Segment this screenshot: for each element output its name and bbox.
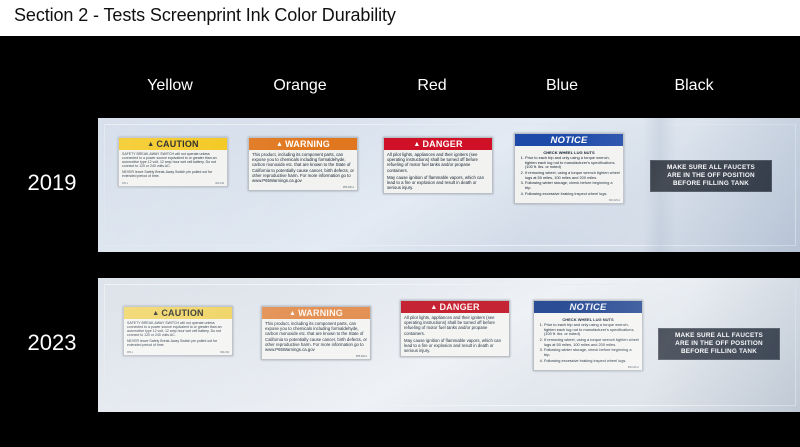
faucets-line-3: BEFORE FILLING TANK <box>659 348 779 356</box>
warning-triangle-icon: ▲ <box>147 141 154 148</box>
decal-danger-title: DANGER <box>422 139 462 149</box>
warning-triangle-icon: ▲ <box>276 141 283 148</box>
decal-danger-2019[interactable]: ▲ DANGER All pilot lights, appliances an… <box>383 137 493 194</box>
decal-notice-2019[interactable]: NOTICE CHECK WHEEL LUG NUTS Prior to eac… <box>514 133 624 204</box>
caution-paragraph-1: SAFETY BREAK-AWAY SWITCH will not operat… <box>127 321 229 337</box>
decal-warning-code-2019: P65-000-2 <box>249 186 357 190</box>
photo-strip-2019: ▲ CAUTION SAFETY BREAK-AWAY SWITCH will … <box>98 118 800 252</box>
decal-warning-body-2019: This product, including its component pa… <box>249 150 357 186</box>
decal-danger-2023[interactable]: ▲ DANGER All pilot lights, appliances an… <box>400 300 510 357</box>
decal-caution-header-2019: ▲ CAUTION <box>119 138 227 150</box>
faucets-line-2: ARE IN THE OFF POSITION <box>651 172 771 180</box>
faucets-line-1: MAKE SURE ALL FAUCETS <box>651 164 771 172</box>
notice-item: If removing wheel, using a torque wrench… <box>544 338 639 347</box>
faucets-line-1: MAKE SURE ALL FAUCETS <box>659 332 779 340</box>
decal-danger-body-2023: All pilot lights, appliances and their i… <box>401 313 509 356</box>
decal-notice-2023[interactable]: NOTICE CHECK WHEEL LUG NUTS Prior to eac… <box>533 300 643 371</box>
caution-paragraph-2: NEVER leave Safety Break-Away Switch pin… <box>127 339 229 347</box>
faucets-line-2: ARE IN THE OFF POSITION <box>659 340 779 348</box>
decal-danger-header-2023: ▲ DANGER <box>401 301 509 313</box>
notice-code-right: 900-025-A <box>609 199 620 202</box>
row-label-2019: 2019 <box>6 170 98 196</box>
column-header-yellow: Yellow <box>110 77 230 95</box>
decal-warning-2023[interactable]: ▲ WARNING This product, including its co… <box>261 306 371 360</box>
decal-caution-code-2019: 965-1 900-019 <box>119 182 227 186</box>
decal-warning-header-2023: ▲ WARNING <box>262 307 370 319</box>
notice-list-2023: Prior to each trip and only using a torq… <box>537 323 639 363</box>
decal-caution-2019[interactable]: ▲ CAUTION SAFETY BREAK-AWAY SWITCH will … <box>118 137 228 187</box>
notice-item: Prior to each trip and only using a torq… <box>544 323 639 337</box>
decal-danger-header-2019: ▲ DANGER <box>384 138 492 150</box>
decal-notice-title: NOTICE <box>550 135 587 146</box>
warning-triangle-icon: ▲ <box>289 310 296 317</box>
warning-triangle-icon: ▲ <box>152 310 159 317</box>
notice-item: Following winter storage, check before b… <box>544 348 639 357</box>
decal-warning-title: WARNING <box>285 139 330 149</box>
decal-notice-title: NOTICE <box>569 302 606 313</box>
decal-caution-title: CAUTION <box>156 139 198 149</box>
danger-paragraph-2: May cause ignition of flammable vapors, … <box>387 175 489 191</box>
caution-code-left: 965-1 <box>122 182 128 185</box>
caution-paragraph-1: SAFETY BREAK-AWAY SWITCH will not operat… <box>122 152 224 168</box>
slide-root: Section 2 - Tests Screenprint Ink Color … <box>0 0 800 447</box>
decal-caution-2023[interactable]: ▲ CAUTION SAFETY BREAK-AWAY SWITCH will … <box>123 306 233 356</box>
decal-caution-body-2019: SAFETY BREAK-AWAY SWITCH will not operat… <box>119 150 227 182</box>
faucets-line-3: BEFORE FILLING TANK <box>651 180 771 188</box>
warning-code-right: P65-000-2 <box>343 186 354 189</box>
caution-code-right: 900-019 <box>220 351 229 354</box>
caution-code-right: 900-019 <box>215 182 224 185</box>
photo-strip-2023: ▲ CAUTION SAFETY BREAK-AWAY SWITCH will … <box>98 278 800 412</box>
notice-item: Following excessive braking inspect whee… <box>544 359 639 364</box>
warning-code-right: P65-000-2 <box>356 355 367 358</box>
decal-warning-body-2023: This product, including its component pa… <box>262 319 370 355</box>
decal-warning-header-2019: ▲ WARNING <box>249 138 357 150</box>
row-label-2023: 2023 <box>6 330 98 356</box>
notice-subheading: CHECK WHEEL LUG NUTS <box>518 150 620 155</box>
column-header-blue: Blue <box>502 77 622 95</box>
warning-triangle-icon: ▲ <box>413 141 420 148</box>
column-header-black: Black <box>634 77 754 95</box>
decal-caution-title: CAUTION <box>161 308 203 318</box>
decal-notice-body-2023: CHECK WHEEL LUG NUTS Prior to each trip … <box>534 313 642 366</box>
notice-item: If removing wheel, using a torque wrench… <box>525 171 620 180</box>
notice-item: Prior to each trip and only using a torq… <box>525 156 620 170</box>
column-header-orange: Orange <box>240 77 360 95</box>
decal-warning-2019[interactable]: ▲ WARNING This product, including its co… <box>248 137 358 191</box>
column-header-red: Red <box>372 77 492 95</box>
decal-warning-title: WARNING <box>298 308 343 318</box>
decal-danger-body-2019: All pilot lights, appliances and their i… <box>384 150 492 193</box>
title-bar: Section 2 - Tests Screenprint Ink Color … <box>0 0 800 36</box>
decal-faucets-2023[interactable]: MAKE SURE ALL FAUCETS ARE IN THE OFF POS… <box>658 328 780 360</box>
page-title: Section 2 - Tests Screenprint Ink Color … <box>14 5 396 26</box>
danger-paragraph-1: All pilot lights, appliances and their i… <box>404 315 506 336</box>
notice-list-2019: Prior to each trip and only using a torq… <box>518 156 620 196</box>
decal-notice-header-2023: NOTICE <box>534 301 642 313</box>
decal-warning-code-2023: P65-000-2 <box>262 355 370 359</box>
decal-caution-header-2023: ▲ CAUTION <box>124 307 232 319</box>
caution-code-left: 965-1 <box>127 351 133 354</box>
warning-triangle-icon: ▲ <box>430 304 437 311</box>
danger-paragraph-1: All pilot lights, appliances and their i… <box>387 152 489 173</box>
notice-subheading: CHECK WHEEL LUG NUTS <box>537 317 639 322</box>
warning-paragraph-1: This product, including its component pa… <box>252 152 354 183</box>
decal-notice-body-2019: CHECK WHEEL LUG NUTS Prior to each trip … <box>515 146 623 199</box>
caution-paragraph-2: NEVER leave Safety Break-Away Switch pin… <box>122 170 224 178</box>
decal-caution-code-2023: 965-1 900-019 <box>124 351 232 355</box>
notice-item: Following excessive braking inspect whee… <box>525 192 620 197</box>
warning-paragraph-1: This product, including its component pa… <box>265 321 367 352</box>
notice-code-right: 900-025-A <box>628 366 639 369</box>
decal-faucets-2019[interactable]: MAKE SURE ALL FAUCETS ARE IN THE OFF POS… <box>650 160 772 192</box>
danger-paragraph-2: May cause ignition of flammable vapors, … <box>404 338 506 354</box>
decal-danger-title: DANGER <box>439 302 479 312</box>
decal-notice-header-2019: NOTICE <box>515 134 623 146</box>
notice-item: Following winter storage, check before b… <box>525 181 620 190</box>
decal-notice-code-2019: 900-025-A <box>515 199 623 203</box>
decal-notice-code-2023: 900-025-A <box>534 366 642 370</box>
decal-caution-body-2023: SAFETY BREAK-AWAY SWITCH will not operat… <box>124 319 232 351</box>
